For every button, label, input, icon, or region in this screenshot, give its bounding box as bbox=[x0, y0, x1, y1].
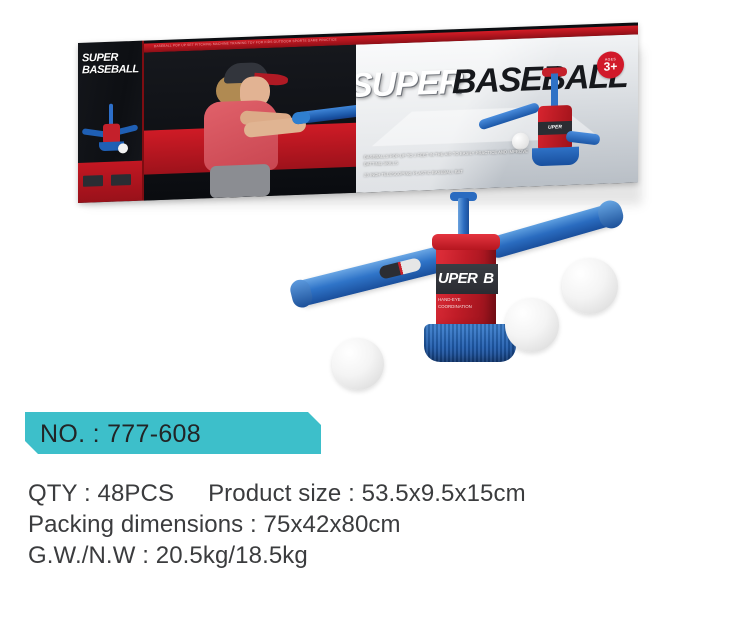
product-ball-3 bbox=[562, 258, 618, 314]
model-number-text: NO. : 777-608 bbox=[40, 420, 201, 449]
side-panel-product-illustration bbox=[84, 103, 138, 161]
package-box: SUPER BASEBALL BASEBALL POP UP SET PITCH… bbox=[78, 43, 644, 206]
box-body: SUPER BASEBALL BASEBALL POP UP SET PITCH… bbox=[78, 22, 638, 203]
spec-qty: QTY : 48PCS bbox=[28, 480, 174, 507]
spec-packing: Packing dimensions : 75x42x80cm bbox=[28, 511, 401, 538]
product-bat-sticker bbox=[378, 257, 422, 280]
side-panel-chips bbox=[83, 174, 131, 187]
product-bat-upper-tip bbox=[595, 198, 626, 232]
spec-row-packing: Packing dimensions : 75x42x80cm bbox=[28, 509, 728, 540]
brand-word-super: SUPER bbox=[356, 63, 462, 106]
side-panel-footer bbox=[78, 161, 142, 203]
spec-product-size: Product size : 53.5x9.5x15cm bbox=[208, 480, 526, 507]
spec-list: QTY : 48PCSProduct size : 53.5x9.5x15cm … bbox=[28, 478, 728, 571]
render-tee-stem bbox=[551, 73, 558, 107]
boy-shirt bbox=[204, 100, 278, 173]
baseball-icon bbox=[118, 143, 128, 153]
product-bat-knob bbox=[288, 278, 314, 310]
product-machine-collar bbox=[432, 234, 500, 250]
box-title-area: SUPER BASEBALL AGES 3+ BASEBALLS POP UP … bbox=[356, 34, 638, 192]
spec-row-qty: QTY : 48PCSProduct size : 53.5x9.5x15cm bbox=[28, 478, 728, 509]
product-ball-2 bbox=[505, 298, 559, 352]
box-side-panel: SUPER BASEBALL bbox=[78, 41, 144, 203]
spec-weight: G.W./N.W : 20.5kg/18.5kg bbox=[28, 542, 308, 569]
bat-grip bbox=[292, 111, 311, 125]
product-machine-label-text-2: B bbox=[483, 270, 493, 287]
box-front-panel: BASEBALL POP UP SET PITCHING MACHINE TRA… bbox=[144, 22, 638, 200]
product-photo: UPERB HAND-EYE COORDINATION bbox=[290, 198, 635, 390]
boy-shorts bbox=[210, 164, 270, 198]
product-machine-sublabel: HAND-EYE COORDINATION bbox=[438, 296, 494, 310]
box-lifestyle-photo bbox=[144, 45, 356, 201]
product-machine-label-text: UPER bbox=[438, 270, 477, 287]
side-chip bbox=[111, 174, 131, 186]
boy-photo bbox=[196, 60, 312, 198]
spec-row-weight: G.W./N.W : 20.5kg/18.5kg bbox=[28, 540, 728, 571]
feature-bullet-2: 23 INCH TELESCOPING PLASTIC BASEBALL BAT bbox=[364, 165, 544, 179]
product-machine-label: UPERB bbox=[436, 264, 498, 294]
tee-pole-icon bbox=[109, 104, 113, 126]
side-chip bbox=[83, 175, 103, 187]
product-ball-1 bbox=[332, 338, 384, 390]
product-bat-upper bbox=[485, 202, 622, 261]
age-badge-value: 3+ bbox=[597, 61, 624, 73]
side-panel-title: SUPER BASEBALL bbox=[82, 51, 140, 76]
product-machine-base bbox=[424, 324, 516, 362]
